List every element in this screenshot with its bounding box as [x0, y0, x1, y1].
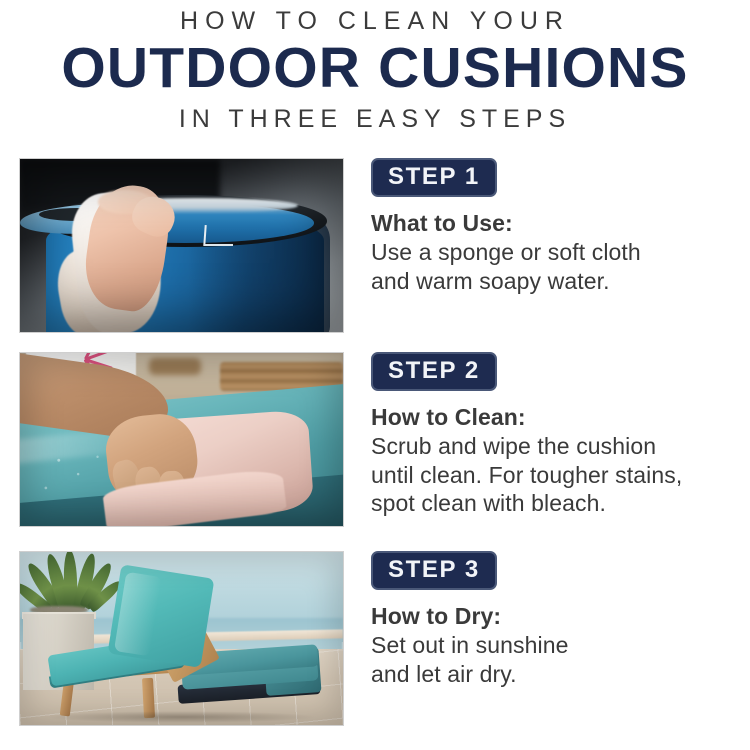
step-3-photo	[19, 551, 344, 726]
infographic-header: HOW TO CLEAN YOUR OUTDOOR CUSHIONS IN TH…	[0, 0, 750, 135]
step-2-line-1: Scrub and wipe the cushion	[371, 432, 731, 461]
step-2-badge: STEP 2	[371, 352, 497, 391]
step-row-1: STEP 1 What to Use: Use a sponge or soft…	[0, 158, 750, 334]
step-row-3: STEP 3 How to Dry: Set out in sunshine a…	[0, 551, 750, 727]
lounge-chair-scene-illustration	[20, 552, 343, 725]
step-3-line-2: and let air dry.	[371, 660, 731, 689]
step-1-line-1: Use a sponge or soft cloth	[371, 238, 731, 267]
step-2-body: Scrub and wipe the cushion until clean. …	[371, 432, 731, 518]
step-3-body: Set out in sunshine and let air dry.	[371, 631, 731, 688]
step-1-line-2: and warm soapy water.	[371, 267, 731, 296]
step-1-body: Use a sponge or soft cloth and warm soap…	[371, 238, 731, 295]
step-3-badge: STEP 3	[371, 551, 497, 590]
wiping-cushion-scene-illustration	[20, 353, 343, 526]
step-3-text: STEP 3 How to Dry: Set out in sunshine a…	[371, 551, 731, 688]
step-1-lead: What to Use:	[371, 209, 731, 237]
step-2-lead: How to Clean:	[371, 403, 731, 431]
step-1-photo	[19, 158, 344, 333]
step-3-lead: How to Dry:	[371, 602, 731, 630]
page-title: OUTDOOR CUSHIONS	[0, 37, 750, 99]
step-2-text: STEP 2 How to Clean: Scrub and wipe the …	[371, 352, 731, 518]
step-2-photo	[19, 352, 344, 527]
step-1-text: STEP 1 What to Use: Use a sponge or soft…	[371, 158, 731, 295]
step-2-line-2: until clean. For tougher stains,	[371, 461, 731, 490]
step-3-line-1: Set out in sunshine	[371, 631, 731, 660]
bucket-scene-illustration	[20, 159, 343, 332]
header-subkicker: IN THREE EASY STEPS	[0, 103, 750, 135]
step-1-badge: STEP 1	[371, 158, 497, 197]
step-2-line-3: spot clean with bleach.	[371, 489, 731, 518]
header-kicker: HOW TO CLEAN YOUR	[0, 6, 750, 36]
step-row-2: STEP 2 How to Clean: Scrub and wipe the …	[0, 352, 750, 528]
